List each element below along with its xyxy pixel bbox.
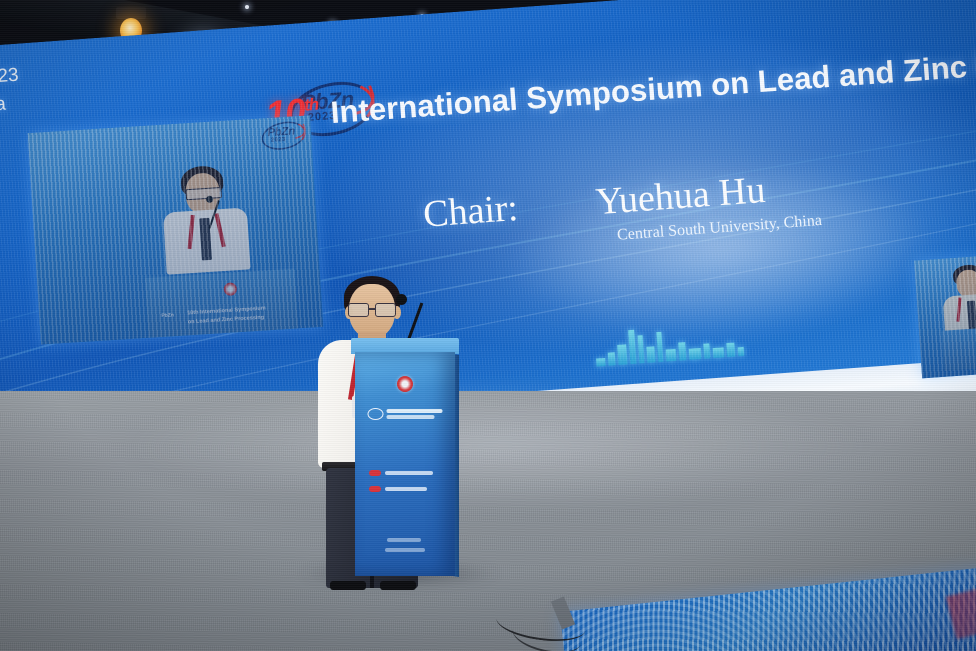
skyline-structure [678,342,686,360]
podium-branding-line [387,415,435,419]
relay-screen-shade [28,115,324,344]
left-relay-screen: PbZn 10th International Symposium on Lea… [28,115,324,344]
skyline-structure [596,358,606,367]
podium-pbzn-mark [368,408,384,420]
floor-highlight [120,381,880,511]
podium-branding-lines [387,409,443,419]
skyline-structure [713,347,725,358]
main-podium [351,338,459,576]
speaker-glasses [348,303,396,315]
podium-symposium-branding [368,408,443,420]
skyline-structure [628,330,636,364]
podium-sponsor-chip [369,470,381,476]
skyline-structure [646,346,655,363]
skyline-structure [666,349,677,362]
skyline-structure [738,347,745,356]
podium-emblem-seal [397,376,413,392]
podium-sponsor-text [385,471,433,475]
microphone-head [396,294,407,305]
podium-footer-text [387,538,421,542]
wall-date-line: er 2023 [0,62,20,94]
skyline-structure [617,344,627,365]
ordinal-suffix: th [303,95,318,115]
skyline-structure [703,343,710,358]
right-relay-screen [914,256,976,379]
speaker-shoe [380,581,416,590]
glasses-lens-right [375,303,396,317]
skyline-structure [638,335,645,363]
skyline-structure [689,348,702,360]
podium-sponsor-chip [369,486,381,492]
wall-location-line: China [0,89,22,121]
relay-screen-shade [914,256,976,379]
skyline-structure [608,352,616,365]
chair-label: Chair: [422,186,520,237]
podium-front-panel [355,352,455,576]
conference-stage-photo: er 2023 China PbZn 2023 10th Internation… [0,0,976,651]
glasses-lens-left [348,303,369,317]
skyline-structure [726,343,735,358]
glasses-bridge [369,308,375,310]
ceiling-downlight [245,5,249,9]
skyline-structure [656,332,663,362]
speaker-shoe [330,581,366,590]
podium-branding-line [387,409,443,413]
podium-footer-text [385,548,425,552]
podium-sponsor-text [385,487,427,491]
